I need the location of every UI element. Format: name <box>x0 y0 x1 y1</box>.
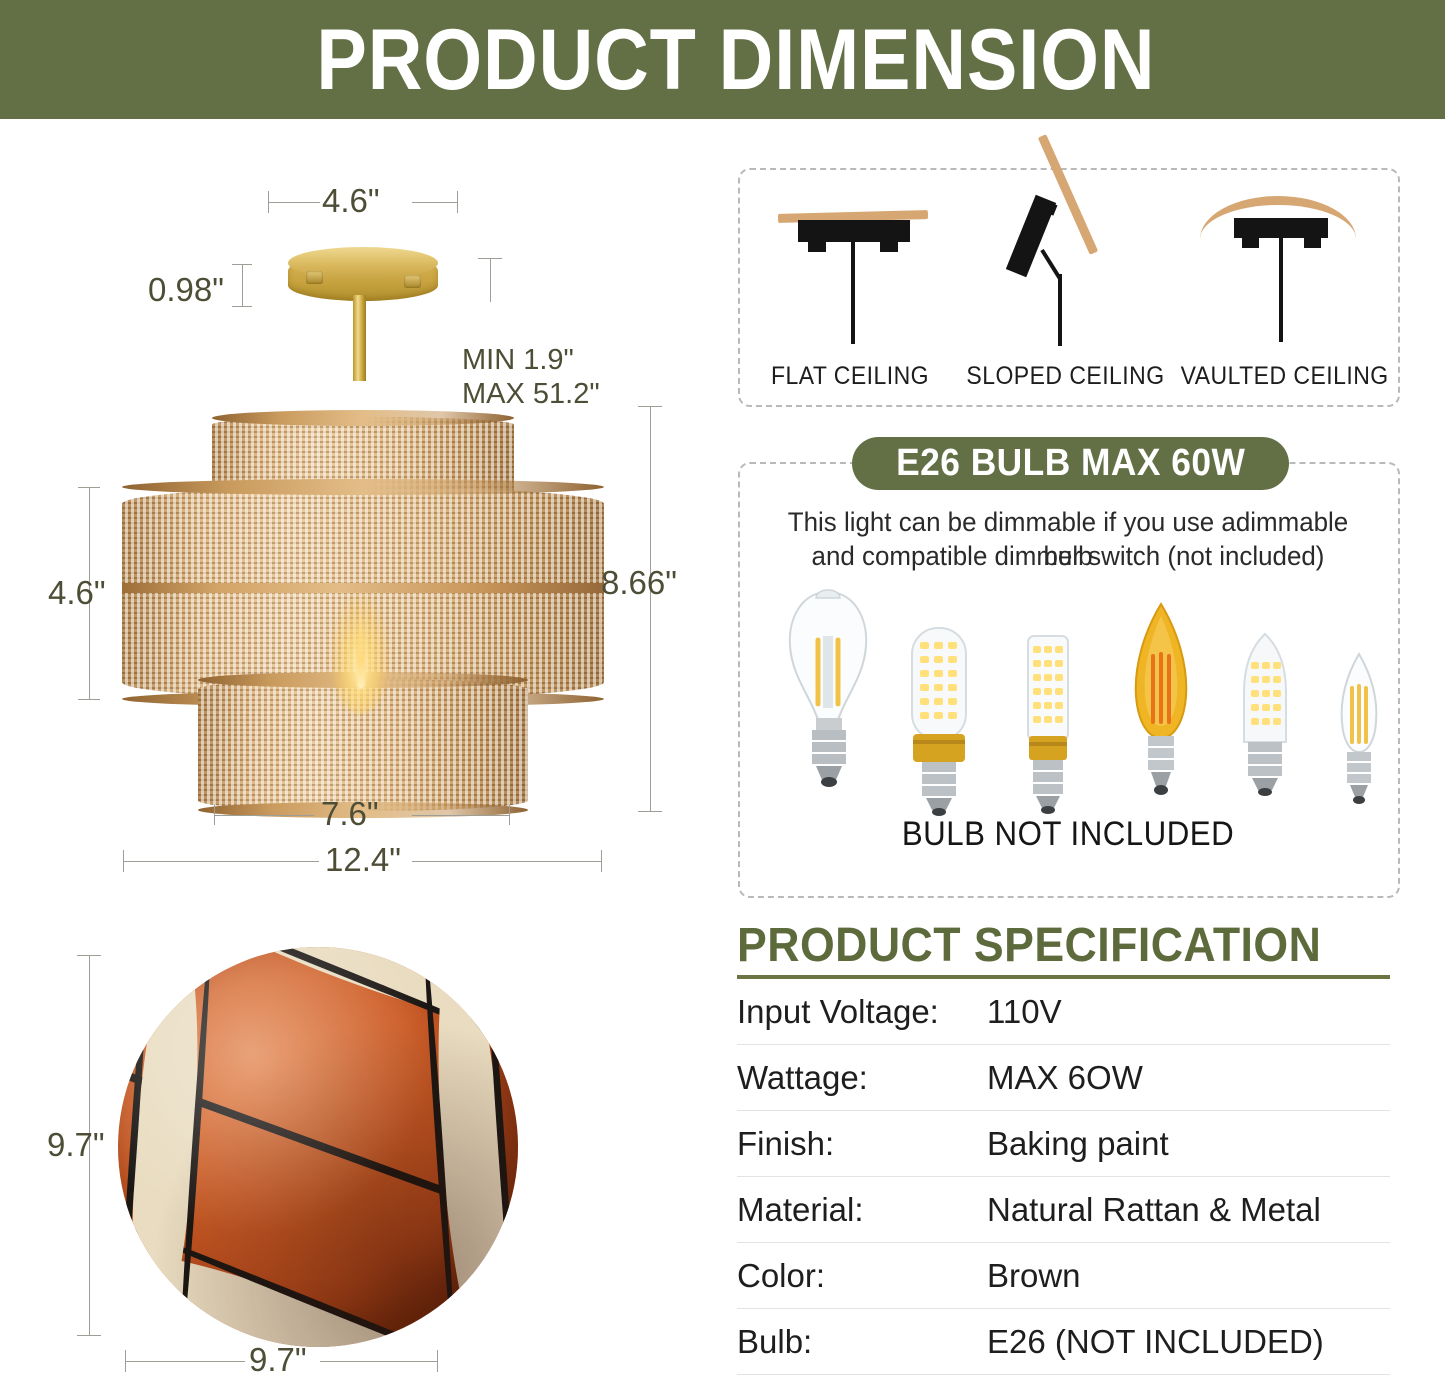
table-row: Finish: Baking paint <box>737 1111 1390 1177</box>
dim-canopy-height-line <box>242 264 243 306</box>
vaulted-ceiling-foot-left <box>1242 236 1259 248</box>
ceiling-type-vaulted-label: VAULTED CEILING <box>1181 362 1380 391</box>
spec-value: MAX 6OW <box>987 1059 1143 1097</box>
dim-max-width-line-right <box>412 861 602 862</box>
table-row: Wattage: MAX 6OW <box>737 1045 1390 1111</box>
dim-max-width-label: 12.4" <box>325 841 401 879</box>
sloped-ceiling-board <box>1038 134 1098 255</box>
dim-ball-height-label: 9.7" <box>47 1126 105 1164</box>
basketball <box>118 947 518 1347</box>
dim-max-width-tick-right <box>601 850 602 872</box>
basketball-shading <box>118 947 518 1347</box>
dim-ball-width-line-right <box>320 1361 438 1362</box>
middle-tier-band <box>122 583 604 593</box>
spec-value: 110V <box>987 993 1062 1031</box>
spec-key: Finish: <box>737 1125 987 1163</box>
st64-filament-bulb-icon <box>776 584 881 794</box>
table-row: Bulb: E26 (NOT INCLUDED) <box>737 1309 1390 1375</box>
dim-rod-line-top <box>490 258 491 302</box>
page-title: PRODUCT DIMENSION <box>290 17 1155 103</box>
spec-key: Material: <box>737 1191 987 1229</box>
dim-total-height-tick-bottom <box>638 811 662 812</box>
frosted-torpedo-led-bulb-icon <box>1226 626 1304 826</box>
vaulted-ceiling-foot-right <box>1304 236 1321 248</box>
dim-ball-width-line-left <box>125 1361 245 1362</box>
sloped-ceiling-drop-rod <box>1058 274 1062 346</box>
amber-candle-filament-bulb-icon <box>1120 596 1202 811</box>
ceiling-type-box: FLAT CEILING SLOPED CEILING VAULTED CEIL… <box>738 168 1400 407</box>
dim-canopy-width-tick-right <box>457 191 458 213</box>
dim-ball-height-tick-bottom <box>77 1335 101 1336</box>
dim-canopy-width-label: 4.6" <box>322 182 380 220</box>
vaulted-ceiling-drop-rod <box>1279 238 1283 342</box>
dim-shade-height-tick-bottom <box>78 699 100 700</box>
corn-led-bulb-gold-base-icon <box>896 606 982 816</box>
dim-canopy-width-line-left <box>268 202 320 203</box>
dim-bottom-width-line-right <box>412 815 510 816</box>
corn-led-bulb-slim-icon <box>1012 626 1084 826</box>
dim-bottom-width-label: 7.6" <box>321 795 379 833</box>
dim-canopy-height-tick-bottom <box>232 306 252 307</box>
clear-candle-filament-bulb-icon <box>1324 648 1394 828</box>
flat-ceiling-drop-rod <box>851 242 855 344</box>
ceiling-type-vaulted: VAULTED CEILING <box>1172 170 1388 405</box>
down-rod <box>353 295 366 381</box>
spec-value: Brown <box>987 1257 1081 1295</box>
dim-rod-max-label: MAX 51.2" <box>462 377 600 411</box>
spec-key: Bulb: <box>737 1323 987 1361</box>
table-row: Material: Natural Rattan & Metal <box>737 1177 1390 1243</box>
canopy-screw-left <box>306 271 323 284</box>
e26-bulb-badge-label: E26 BULB MAX 60W <box>896 442 1245 485</box>
dim-canopy-width-line-right <box>412 202 458 203</box>
header-banner: PRODUCT DIMENSION <box>0 0 1445 119</box>
dim-bottom-width-line-left <box>214 815 314 816</box>
dim-shade-height-label: 4.6" <box>48 574 106 612</box>
middle-tier-rim-top <box>122 479 604 495</box>
bulb-filament <box>357 619 365 689</box>
dim-max-width-line-left <box>123 861 319 862</box>
dimmable-note-line2: and compatible dimmer switch (not includ… <box>761 539 1375 573</box>
spec-value: E26 (NOT INCLUDED) <box>987 1323 1324 1361</box>
dim-rod-min-label: MIN 1.9" <box>462 343 574 377</box>
specification-title: PRODUCT SPECIFICATION <box>737 918 1321 973</box>
ceiling-type-flat: FLAT CEILING <box>750 170 950 405</box>
basketball-size-reference: 9.7" 9.7" <box>0 930 700 1381</box>
ceiling-type-sloped: SLOPED CEILING <box>958 170 1168 405</box>
canopy-screw-right <box>404 275 421 288</box>
spec-value: Natural Rattan & Metal <box>987 1191 1321 1229</box>
ceiling-type-flat-label: FLAT CEILING <box>758 362 942 391</box>
table-row: Input Voltage: 110V <box>737 979 1390 1045</box>
dim-ball-width-tick-right <box>437 1350 438 1372</box>
spec-key: Color: <box>737 1257 987 1295</box>
product-dimension-infographic: PRODUCT DIMENSION 4.6" 0.98" MIN 1.9" MA… <box>0 0 1445 1381</box>
ceiling-type-sloped-label: SLOPED CEILING <box>966 362 1159 391</box>
lamp-dimension-diagram: 4.6" 0.98" MIN 1.9" MAX 51.2" <box>0 119 700 909</box>
dim-canopy-height-label: 0.98" <box>148 271 224 309</box>
spec-key: Wattage: <box>737 1059 987 1097</box>
dim-total-height-label: 8.66" <box>601 564 677 602</box>
vaulted-ceiling-mount <box>1234 218 1328 238</box>
e26-bulb-badge: E26 BULB MAX 60W <box>852 437 1289 490</box>
dim-ball-width-label: 9.7" <box>249 1341 307 1379</box>
top-tier-rim <box>212 410 514 426</box>
flat-ceiling-mount <box>798 220 910 242</box>
spec-value: Baking paint <box>987 1125 1169 1163</box>
flat-ceiling-foot-left <box>808 240 826 252</box>
bulb-not-included-label: BULB NOT INCLUDED <box>774 815 1363 854</box>
dim-total-height-line <box>650 406 651 811</box>
table-row: Color: Brown <box>737 1243 1390 1309</box>
specification-table: Input Voltage: 110V Wattage: MAX 6OW Fin… <box>737 979 1390 1375</box>
dim-bottom-width-tick-right <box>509 805 510 825</box>
compatible-bulbs-row <box>748 580 1388 800</box>
flat-ceiling-foot-right <box>880 240 898 252</box>
spec-key: Input Voltage: <box>737 993 987 1031</box>
